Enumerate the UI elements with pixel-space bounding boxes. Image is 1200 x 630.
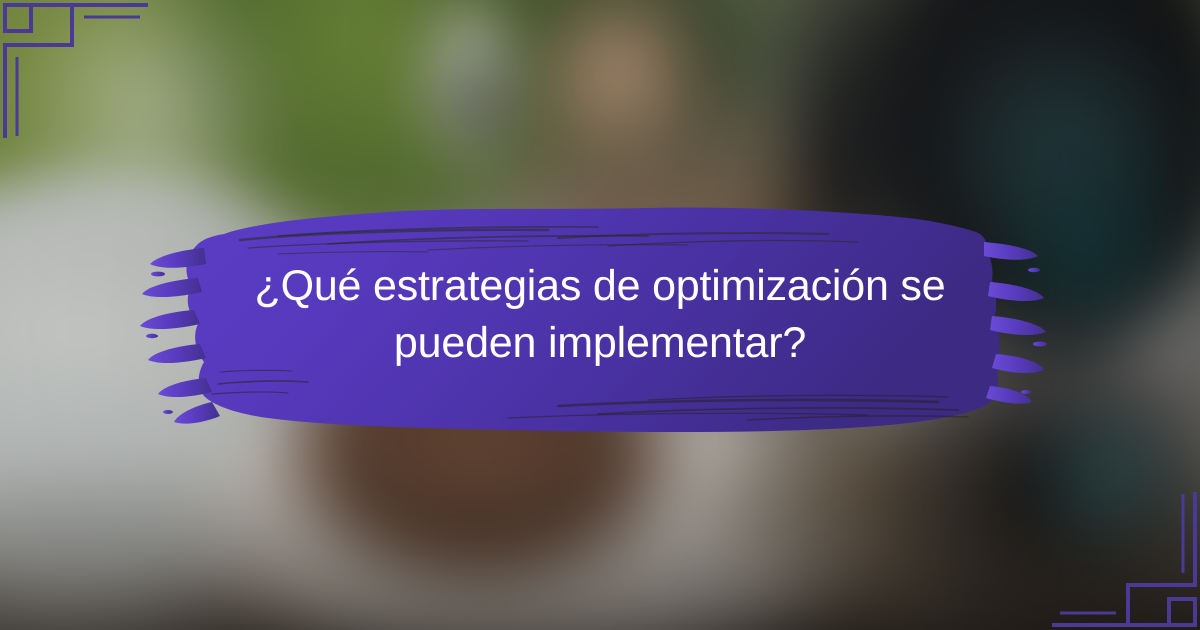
corner-decoration-top-left <box>0 0 170 160</box>
social-share-card: ¿Qué estrategias de optimización se pued… <box>0 0 1200 630</box>
background-bottom-vignette <box>0 450 1200 630</box>
corner-decoration-bottom-right <box>1030 470 1200 630</box>
headline-text: ¿Qué estrategias de optimización se pued… <box>210 258 990 372</box>
